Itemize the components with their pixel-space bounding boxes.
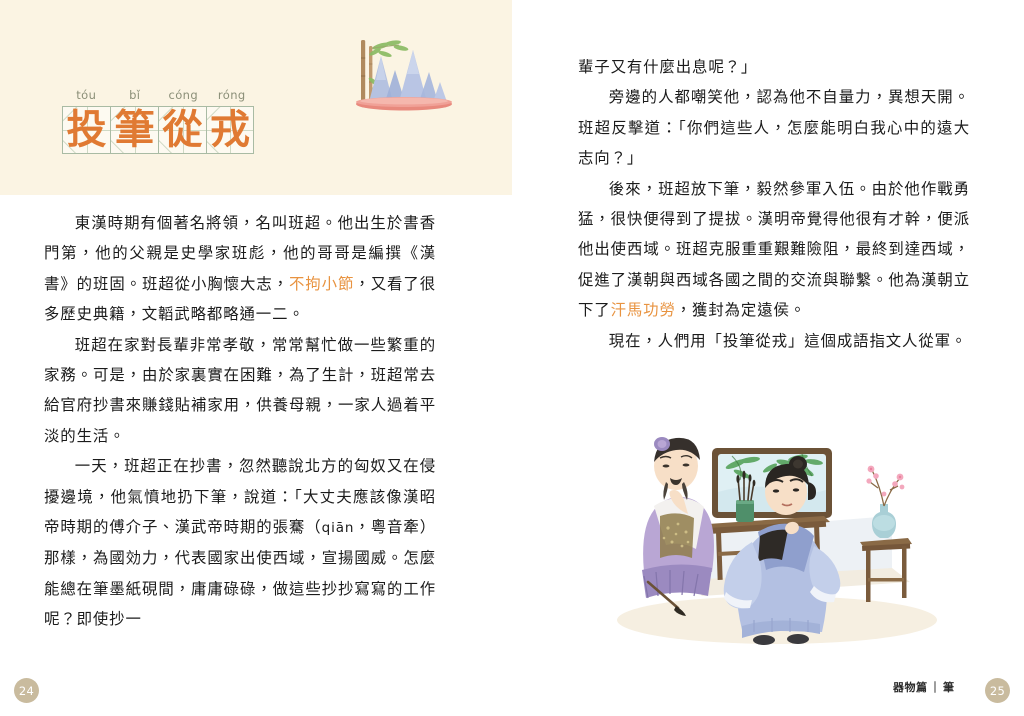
paragraph-6: 後來，班超放下筆，毅然參軍入伍。由於他作戰勇猛，很快便得到了提拔。漢明帝覺得他很…: [578, 174, 970, 326]
pinyin-rong: róng: [208, 88, 257, 102]
run-text: 後來，班超放下筆，毅然參軍入伍。由於他作戰勇猛，很快便得到了提拔。漢明帝覺得他很…: [578, 180, 970, 320]
bamboo-mountain-brush-rest-icon: [341, 32, 461, 120]
page-number-right: 25: [985, 678, 1010, 703]
paragraph-7: 現在，人們用「投筆從戎」這個成語指文人從軍。: [578, 326, 970, 356]
paragraph-2: 班超在家對長輩非常孝敬，常常幫忙做一些繁重的家務。可是，由於家裏實在困難，為了生…: [44, 330, 436, 452]
paragraph-3: 一天，班超正在抄書，忽然聽說北方的匈奴又在侵擾邊境，他氣憤地扔下筆，說道：「大丈…: [44, 451, 436, 634]
run-text: 旁邊的人都嘲笑他，認為他不自量力，異想天開。班超反擊道：「你們這些人，怎麼能明白…: [578, 88, 970, 167]
idiom-title-grid: 投 筆 從 戎: [62, 106, 254, 154]
page-number-left: 24: [14, 678, 39, 703]
pinyin-tou: tóu: [62, 88, 111, 102]
title-grid-cell-3: 從: [158, 106, 206, 154]
title-char-1: 投: [63, 107, 110, 153]
book-spread-page: tóu bǐ cóng róng 投 筆 從 戎: [0, 0, 1024, 716]
highlighted-idiom-bujuxiaojie: 不拘小節: [289, 275, 354, 293]
pinyin-annotation-qian: qiān: [322, 520, 355, 536]
left-page-body-text: 東漢時期有個著名將領，名叫班超。他出生於書香門第，他的父親是史學家班彪，他的哥哥…: [44, 208, 436, 635]
right-page-body-text: 輩子又有什麼出息呢？」 旁邊的人都嘲笑他，認為他不自量力，異想天開。班超反擊道：…: [578, 52, 970, 356]
pinyin-bi: bǐ: [111, 88, 160, 102]
title-char-4: 戎: [207, 107, 253, 153]
footer-section-label: 器物篇｜筆: [893, 679, 955, 695]
run-text: 現在，人們用「投筆從戎」這個成語指文人從軍。: [609, 332, 967, 350]
footer-separator: ｜: [930, 681, 942, 694]
paragraph-1: 東漢時期有個著名將領，名叫班超。他出生於書香門第，他的父親是史學家班彪，他的哥哥…: [44, 208, 436, 330]
run-text: 輩子又有什麼出息呢？」: [578, 58, 757, 76]
pinyin-cong: cóng: [159, 88, 208, 102]
paragraph-5: 旁邊的人都嘲笑他，認為他不自量力，異想天開。班超反擊道：「你們這些人，怎麼能明白…: [578, 82, 970, 173]
paragraph-4-continued: 輩子又有什麼出息呢？」: [578, 52, 970, 82]
run-text: 班超在家對長輩非常孝敬，常常幫忙做一些繁重的家務。可是，由於家裏實在困難，為了生…: [44, 336, 436, 445]
title-grid-cell-2: 筆: [110, 106, 158, 154]
highlighted-idiom-hanmagonglao: 汗馬功勞: [611, 301, 676, 319]
run-text: ，獲封為定遠侯。: [676, 301, 806, 319]
title-char-3: 從: [159, 107, 206, 153]
elder-figure: [642, 437, 714, 616]
title-grid-cell-4: 戎: [206, 106, 254, 154]
section-name: 器物篇: [893, 681, 928, 694]
item-name: 筆: [943, 681, 955, 694]
title-char-2: 筆: [111, 107, 158, 153]
story-illustration-scene: [592, 420, 990, 648]
pinyin-row: tóu bǐ cóng róng: [62, 88, 256, 102]
title-grid-cell-1: 投: [62, 106, 110, 154]
